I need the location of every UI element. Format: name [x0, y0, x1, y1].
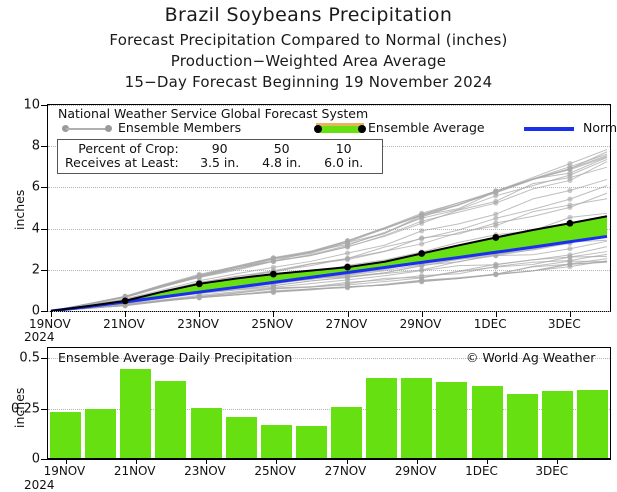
x-axis-tick-label: 3DEC [535, 464, 568, 478]
y-axis-tick-mark [41, 409, 47, 410]
y-axis-tick-mark [41, 146, 47, 147]
x-axis-tick-label: 29NOV [400, 317, 442, 331]
legend-ensemble-average-label: Ensemble Average [368, 120, 485, 135]
x-axis-tick-label: 29NOV [395, 464, 437, 478]
y-axis-tick-label: 0 [0, 452, 40, 467]
ensemble-average-point [418, 250, 425, 257]
chart-page: Brazil Soybeans Precipitation Forecast P… [0, 0, 617, 487]
x-axis-tick-label: 21NOV [114, 464, 156, 478]
percent-of-crop-table: Percent of Crop: 90 50 10 Receives at Le… [57, 139, 383, 174]
y-axis-tick-mark [41, 459, 47, 460]
y-axis-tick-mark [41, 187, 47, 188]
copyright-notice: © World Ag Weather [466, 350, 595, 365]
table-row: Percent of Crop: 90 50 10 [65, 142, 375, 156]
bar [85, 409, 116, 459]
bar [50, 412, 81, 459]
legend-ensemble-members-label: Ensemble Members [118, 120, 241, 135]
bar [296, 426, 327, 459]
ensemble-average-point [122, 298, 129, 305]
ensemble-average-point [567, 220, 574, 227]
y-axis-tick-label: 10 [2, 98, 40, 113]
bar [472, 386, 503, 459]
bar [577, 390, 608, 459]
percent-value-1: 50 [251, 142, 313, 156]
x-axis-tick-label: 23NOV [184, 464, 226, 478]
percent-value-2: 10 [313, 142, 375, 156]
bottom-chart-title: Ensemble Average Daily Precipitation [58, 350, 292, 365]
x-axis-tick-label: 25NOV [251, 317, 293, 331]
x-axis-tick-label: 19NOV [29, 317, 71, 331]
ensemble-average-point [344, 264, 351, 271]
y-axis-tick-mark [41, 311, 47, 312]
bar [331, 407, 362, 459]
gridline [48, 311, 610, 312]
y-axis-tick-label: 8 [2, 139, 40, 154]
top-chart-x-axis-year: 2024 [24, 330, 55, 344]
x-axis-tick-label: 1DEC [465, 464, 498, 478]
y-axis-tick-mark [41, 358, 47, 359]
bar [366, 378, 397, 459]
bar [191, 408, 222, 459]
ensemble-average-start-dot-icon [314, 125, 322, 133]
y-axis-tick-label: 0.5 [0, 351, 40, 366]
x-axis-tick-label: 27NOV [325, 464, 367, 478]
x-axis-tick-label: 1DEC [474, 317, 507, 331]
bar [261, 425, 292, 459]
bottom-chart-baseline [48, 458, 610, 460]
cumulative-precipitation-chart [47, 104, 611, 312]
y-axis-tick-mark [41, 270, 47, 271]
bar [542, 391, 573, 459]
receives-at-least-label: Receives at Least: [65, 156, 189, 170]
percent-of-crop-label: Percent of Crop: [65, 142, 189, 156]
x-axis-tick-label: 3DEC [548, 317, 581, 331]
x-axis-tick-label: 25NOV [254, 464, 296, 478]
ensemble-average-point [492, 234, 499, 241]
y-axis-tick-mark [41, 229, 47, 230]
bar [155, 381, 186, 459]
bottom-chart-y-axis-label: inches [12, 388, 27, 428]
amount-value-1: 4.8 in. [251, 156, 313, 170]
table-row: Receives at Least: 3.5 in. 4.8 in. 6.0 i… [65, 156, 375, 170]
ensemble-average-point [270, 271, 277, 278]
ensemble-member-line-icon [66, 128, 108, 130]
bar [507, 394, 538, 459]
legend-normal-label: Normal [583, 120, 617, 135]
x-axis-tick-label: 19NOV [44, 464, 86, 478]
legend-source-label: National Weather Service Global Forecast… [58, 106, 368, 121]
amount-value-0: 3.5 in. [189, 156, 251, 170]
bar [120, 369, 151, 459]
subtitle-line-2: Production−Weighted Area Average [0, 52, 617, 70]
ensemble-member-end-dot-icon [105, 125, 112, 132]
ensemble-average-end-dot-icon [358, 125, 366, 133]
ensemble-average-point [196, 280, 203, 287]
top-chart-plot [48, 105, 610, 311]
x-axis-tick-label: 27NOV [326, 317, 368, 331]
page-title: Brazil Soybeans Precipitation [0, 4, 617, 26]
subtitle-line-1: Forecast Precipitation Compared to Norma… [0, 31, 617, 49]
bottom-chart-x-axis-year: 2024 [24, 478, 55, 492]
normal-line-icon [524, 127, 574, 131]
subtitle-line-3: 15−Day Forecast Beginning 19 November 20… [0, 73, 617, 91]
percent-value-0: 90 [189, 142, 251, 156]
y-axis-tick-label: 2 [2, 262, 40, 277]
ensemble-average-top-stripe-icon [316, 123, 364, 126]
x-axis-tick-label: 23NOV [177, 317, 219, 331]
bar [226, 417, 257, 459]
x-axis-tick-label: 21NOV [103, 317, 145, 331]
bar [436, 382, 467, 459]
y-axis-tick-mark [41, 105, 47, 106]
amount-value-2: 6.0 in. [313, 156, 375, 170]
top-chart-y-axis-label: inches [12, 190, 27, 230]
bar [401, 378, 432, 459]
